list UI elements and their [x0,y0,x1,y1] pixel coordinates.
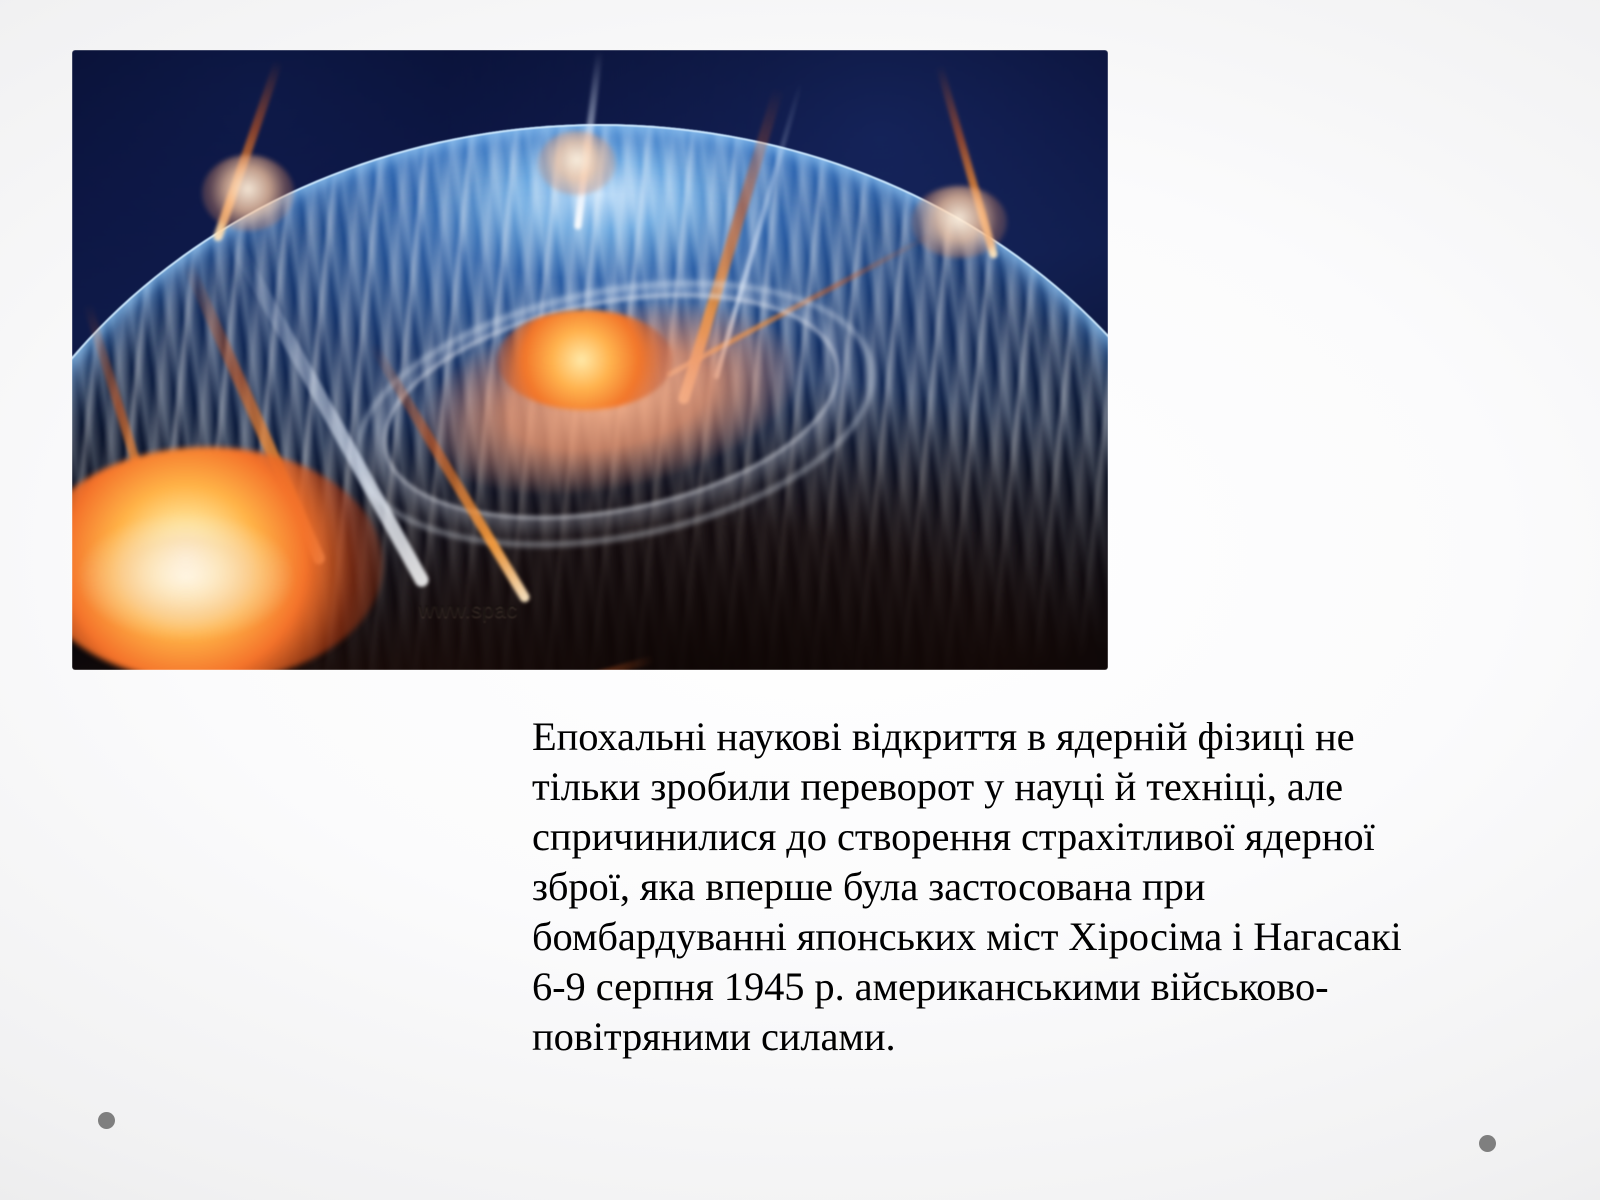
body-line-2: тільки зробили переворот у науці й техні… [532,762,1472,812]
impact-puff-3 [911,186,1007,258]
fireball-debris [72,496,300,657]
slide-body-text: Епохальні наукові відкриття в ядерній фі… [532,712,1472,1062]
body-line-4: зброї, яка вперше була застосована при [532,862,1472,912]
earth-impact-image[interactable]: www.spac [72,50,1108,670]
bottom-right-bullet-dot [1479,1135,1496,1152]
body-line-6: 6-9 серпня 1945 р. американськими військ… [532,962,1472,1012]
body-line-5: бомбардуванні японських міст Хіросіма і … [532,912,1472,962]
body-line-3: спричинилися до створення страхітливої я… [532,812,1472,862]
image-watermark: www.spac [419,599,518,623]
impact-puff-2 [538,131,616,195]
body-line-1: Епохальні наукові відкриття в ядерній фі… [532,712,1472,762]
image-canvas: www.spac [72,50,1108,670]
bottom-left-bullet-dot [98,1112,115,1129]
impact-blast-core [497,310,673,409]
body-line-7: повітряними силами. [532,1012,1472,1062]
impact-puff-1 [202,155,294,231]
presentation-slide: www.spac Епохальні наукові відкриття в я… [0,0,1600,1200]
